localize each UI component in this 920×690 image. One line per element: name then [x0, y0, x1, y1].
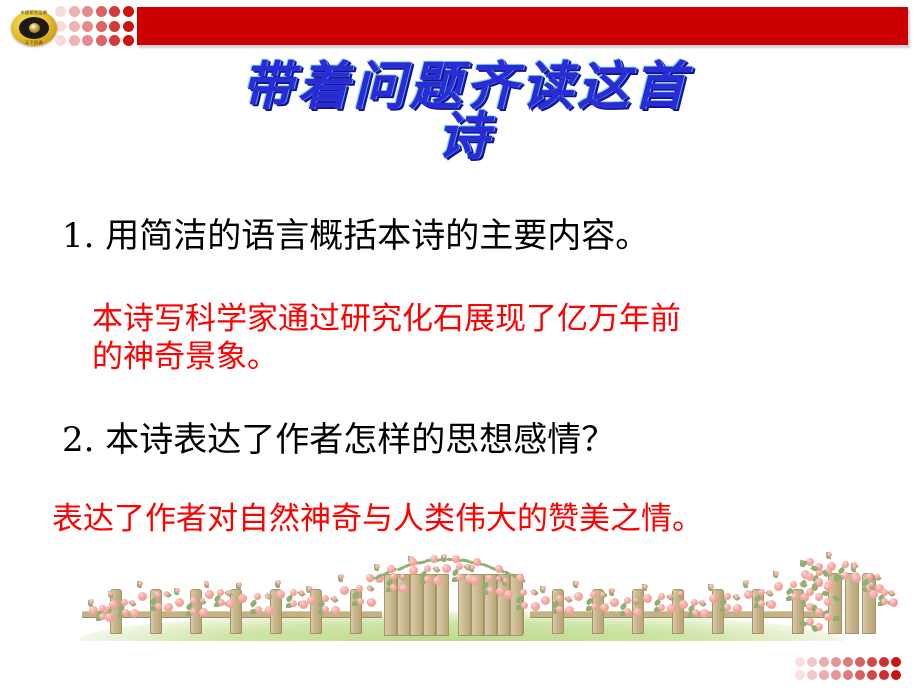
rose-blossom	[541, 586, 546, 591]
rose-blossom	[591, 603, 598, 610]
question-1: 1. 用简洁的语言概括本诗的主要内容。	[62, 216, 649, 256]
rose-blossom	[774, 582, 783, 591]
footer-dot-grid	[795, 657, 907, 681]
rose-blossom	[430, 555, 438, 563]
rose-blossom	[434, 566, 439, 571]
rose-blossom	[290, 600, 297, 607]
header-dot	[96, 35, 107, 46]
rose-blossom	[633, 608, 642, 617]
rose-blossom	[758, 589, 765, 596]
answer-1-line-1: 本诗写科学家通过研究化石展现了亿万年前	[92, 301, 681, 337]
footer-dot	[879, 670, 889, 680]
rose-blossom	[679, 600, 688, 609]
footer-dot	[843, 670, 853, 680]
rose-blossom	[806, 588, 814, 596]
rose-blossom	[409, 558, 417, 566]
rose-blossom	[105, 606, 110, 611]
rose-blossom	[852, 564, 857, 569]
footer-dot	[891, 670, 901, 680]
rose-blossom	[226, 599, 235, 608]
rose-blossom	[190, 597, 197, 604]
footer-dot	[855, 670, 865, 680]
rose-blossom	[322, 595, 329, 602]
footer-dot	[819, 670, 829, 680]
rose-blossom	[791, 593, 798, 600]
footer-dot	[831, 657, 841, 667]
rose-blossom	[307, 586, 312, 591]
rose-blossom	[624, 608, 631, 615]
header-dot	[69, 35, 80, 46]
header-dot	[96, 21, 107, 32]
gate-board	[458, 574, 471, 636]
rose-blossom	[889, 590, 894, 595]
rose-blossom	[339, 574, 344, 579]
rose-blossom	[824, 613, 832, 621]
footer-dot	[807, 670, 817, 680]
rose-blossom	[105, 613, 114, 622]
header-dot	[82, 21, 93, 32]
logo-top-text: 中国知名品牌	[12, 10, 56, 16]
footer-dot	[843, 657, 853, 667]
rose-blossom	[99, 605, 106, 612]
rose-blossom	[643, 584, 648, 589]
rose-blossom	[452, 555, 460, 563]
rose-blossom	[366, 574, 374, 582]
rose-blossom	[866, 573, 873, 580]
rose-blossom	[700, 600, 705, 605]
header-dot	[69, 6, 80, 17]
rose-blossom	[276, 580, 281, 585]
rose-blossom	[387, 565, 395, 573]
rose-blossom	[175, 598, 184, 607]
answer-2: 表达了作者对自然神奇与人类伟大的赞美之情。	[52, 500, 703, 538]
header-dot	[109, 6, 120, 17]
rose-blossom	[691, 599, 698, 606]
rose-blossom	[390, 573, 397, 580]
rose-blossom	[774, 571, 779, 576]
header-red-band	[137, 7, 908, 45]
rose-blossom	[692, 609, 699, 616]
rose-blossom	[299, 590, 304, 595]
rose-blossom	[122, 609, 129, 616]
header-dot	[123, 21, 134, 32]
rose-leaf	[800, 561, 807, 566]
rose-blossom	[758, 600, 765, 607]
rose-blossom	[767, 600, 776, 609]
footer-dot	[795, 670, 805, 680]
rose-blossom	[424, 565, 431, 572]
rose-blossom	[138, 592, 147, 601]
rose-blossom	[205, 590, 214, 599]
rose-blossom	[852, 574, 861, 583]
rose-blossom	[290, 589, 297, 596]
garden-fence-decoration	[0, 556, 920, 641]
rose-blossom	[875, 574, 880, 579]
rose-blossom	[744, 580, 749, 585]
rose-blossom	[332, 596, 337, 601]
answer-1: 本诗写科学家通过研究化石展现了亿万年前 的神奇景象。	[92, 300, 902, 376]
rose-blossom	[130, 600, 135, 605]
rose-blossom	[254, 593, 261, 600]
slide-canvas: 中国知名品牌 天下资源 带着问题齐读这首 诗 1. 用简洁的语言概括本诗的主要内…	[0, 0, 920, 690]
rose-blossom	[574, 592, 583, 601]
footer-dot	[819, 657, 829, 667]
rose-blossom	[842, 561, 849, 568]
slide-title: 带着问题齐读这首 诗	[130, 62, 800, 162]
rose-blossom	[89, 606, 98, 615]
rose-blossom	[824, 598, 832, 606]
rose-blossom	[881, 589, 888, 596]
rose-blossom	[610, 588, 615, 593]
logo-pupil-icon	[29, 23, 40, 33]
brand-logo: 中国知名品牌 天下资源	[8, 6, 60, 50]
header-dot	[123, 6, 134, 17]
rose-blossom	[367, 598, 376, 607]
header-dot	[96, 6, 107, 17]
footer-dot	[891, 657, 901, 667]
rose-blossom	[138, 581, 143, 586]
rose-blossom	[827, 552, 832, 557]
rose-blossom	[668, 594, 673, 599]
rose-blossom	[541, 596, 550, 605]
rose-blossom	[276, 590, 285, 599]
rose-blossom	[869, 582, 874, 587]
logo-bottom-text: 天下资源	[12, 40, 56, 46]
slide-title-line-2: 诗	[130, 112, 800, 162]
rose-blossom	[218, 599, 225, 606]
rose-blossom	[624, 597, 631, 604]
rose-blossom	[357, 598, 364, 605]
rose-blossom	[556, 595, 563, 602]
rose-blossom	[217, 589, 224, 596]
footer-dot	[879, 657, 889, 667]
header-dot	[82, 35, 93, 46]
rose-blossom	[175, 588, 180, 593]
rose-blossom	[734, 594, 739, 599]
rose-blossom	[255, 606, 262, 613]
rose-blossom	[700, 609, 709, 618]
header-dot	[123, 35, 134, 46]
rose-blossom	[340, 586, 349, 595]
rose-blossom	[237, 582, 242, 587]
footer-dot	[867, 670, 877, 680]
fence-gate-post-left2	[845, 576, 859, 634]
rose-blossom	[790, 581, 797, 588]
answer-1-line-2: 的神奇景象。	[92, 338, 902, 376]
rose-blossom	[89, 599, 94, 604]
rose-blossom	[658, 593, 665, 600]
rose-blossom	[456, 563, 463, 570]
footer-dot	[831, 670, 841, 680]
rose-blossom	[574, 581, 579, 586]
rose-blossom	[767, 590, 772, 595]
header-dot	[82, 6, 93, 17]
rose-blossom	[200, 598, 205, 603]
rose-blossom	[356, 585, 363, 592]
rose-blossom	[375, 564, 380, 569]
rose-blossom	[155, 603, 162, 610]
footer-dot	[867, 657, 877, 667]
rose-blossom	[633, 598, 638, 603]
rose-blossom	[815, 593, 823, 601]
footer-dot	[795, 657, 805, 667]
rose-blossom	[643, 594, 652, 603]
rose-blossom	[238, 594, 247, 603]
rose-blossom	[516, 574, 524, 582]
header-dot	[109, 35, 120, 46]
rose-blossom	[400, 574, 405, 579]
header-dot-grid	[55, 6, 137, 50]
rose-blossom	[226, 590, 231, 595]
footer-dot	[807, 657, 817, 667]
rose-blossom	[724, 593, 731, 600]
rose-blossom	[531, 602, 540, 611]
header-dot	[69, 21, 80, 32]
rose-blossom	[495, 565, 503, 573]
rose-blossom	[456, 574, 463, 581]
footer-dot	[855, 657, 865, 667]
rose-blossom	[889, 598, 898, 607]
rose-blossom	[566, 596, 571, 601]
rose-blossom	[121, 599, 128, 606]
gate-board	[397, 574, 410, 636]
header-dot	[109, 21, 120, 32]
rose-blossom	[487, 587, 494, 594]
rose-blossom	[610, 598, 619, 607]
fence-picket	[592, 592, 604, 634]
rose-blossom	[130, 609, 139, 618]
rose-blossom	[806, 573, 814, 581]
rose-blossom	[442, 564, 451, 573]
rose-blossom	[709, 584, 714, 589]
rose-blossom	[520, 589, 527, 596]
question-2: 2. 本诗表达了作者怎样的思想感情？	[62, 420, 615, 460]
rose-blossom	[521, 602, 528, 609]
